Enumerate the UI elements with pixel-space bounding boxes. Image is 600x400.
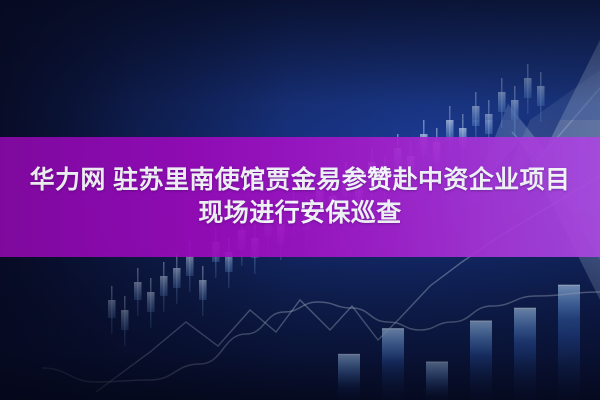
headline-line-2: 现场进行安保巡查	[198, 197, 401, 231]
headline-band: 华力网 驻苏里南使馆贾金易参赞赴中资企业项目 现场进行安保巡查	[0, 137, 600, 257]
headline-line-1: 华力网 驻苏里南使馆贾金易参赞赴中资企业项目	[22, 164, 579, 198]
banner-image: 华力网 驻苏里南使馆贾金易参赞赴中资企业项目 现场进行安保巡查	[0, 0, 600, 400]
